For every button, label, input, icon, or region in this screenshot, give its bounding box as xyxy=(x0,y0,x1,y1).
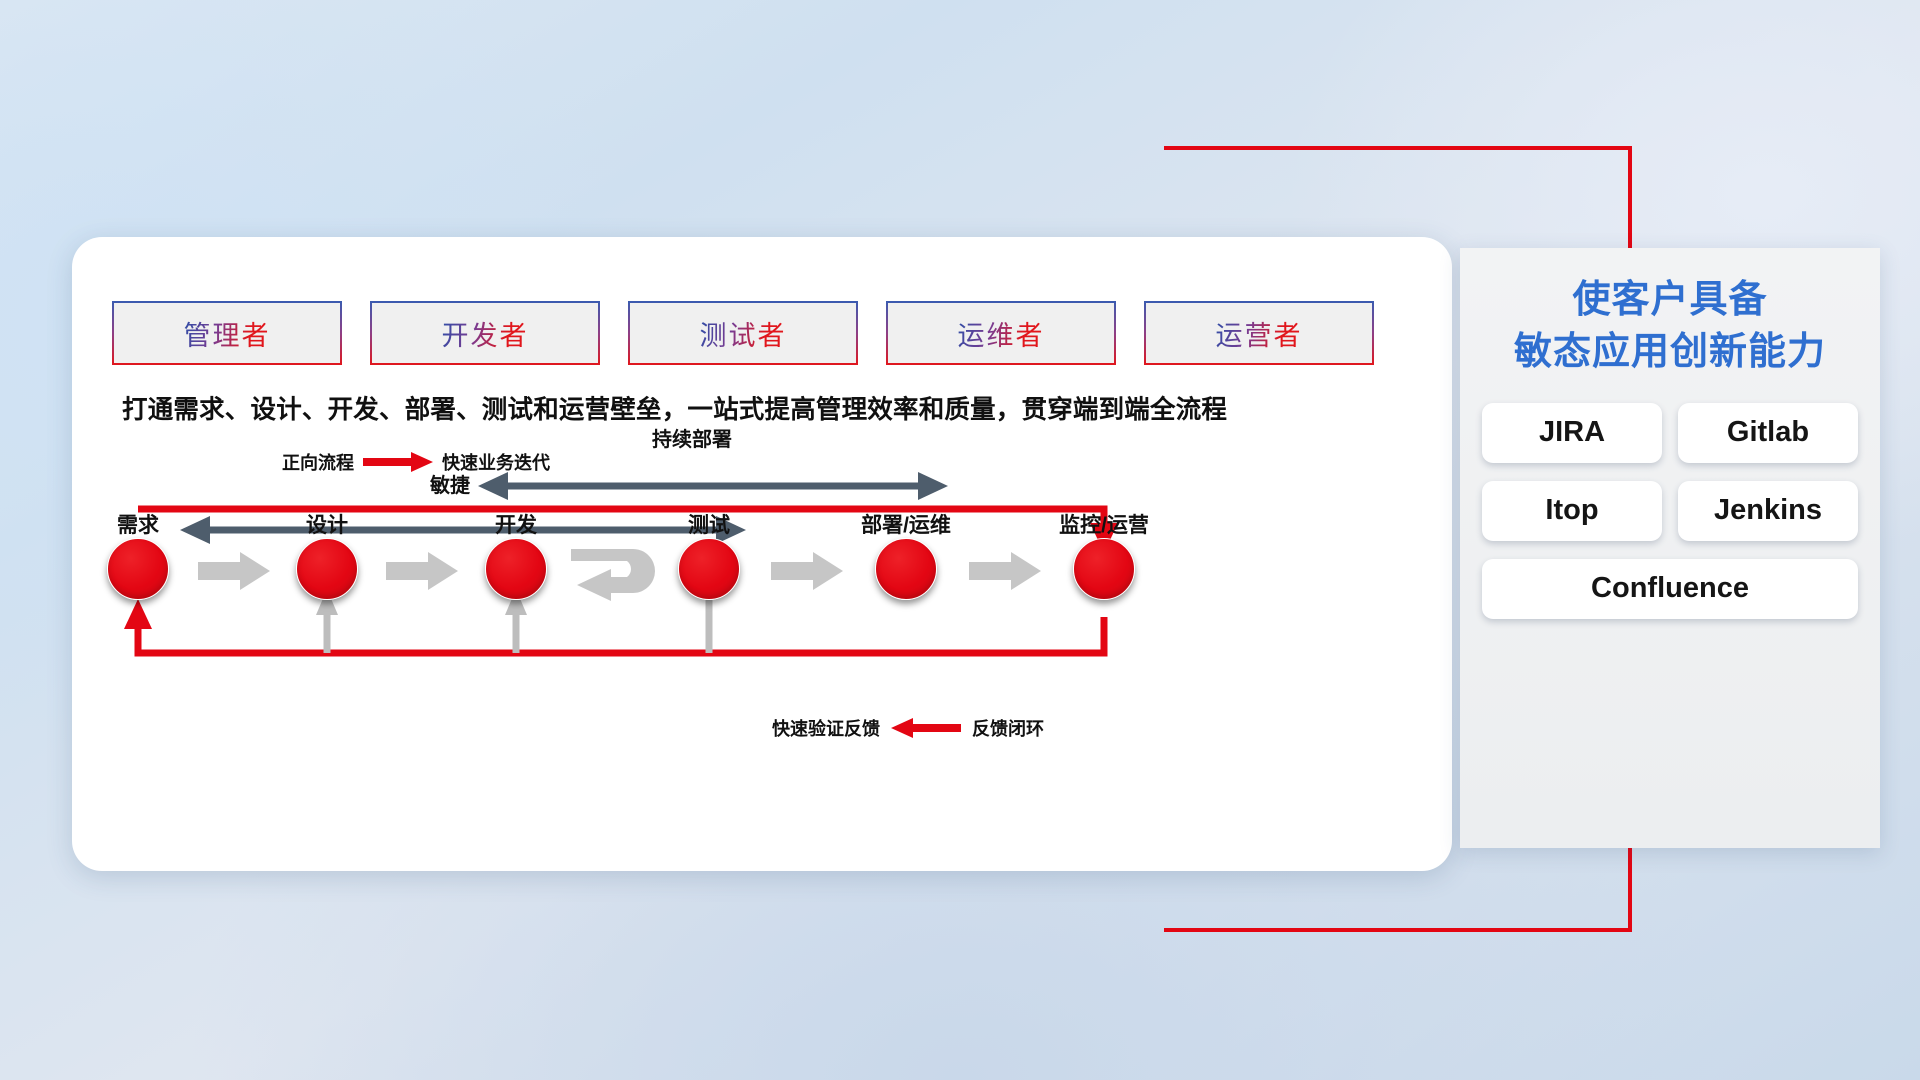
main-card: 管理者 开发者 测试者 运维者 运营者 xyxy=(72,237,1452,871)
pipeline-row: 需求 设计 开发 测试 部署/运维 xyxy=(72,237,1452,871)
stage-label-testing: 测试 xyxy=(688,509,730,539)
stage-dot-deploy-ops[interactable] xyxy=(875,538,937,600)
tool-pill-jira[interactable]: JIRA xyxy=(1482,403,1662,463)
panel-title-line1: 使客户具备 xyxy=(1460,274,1880,326)
gray-arrow-icon-2 xyxy=(386,552,458,590)
stage-label-development: 开发 xyxy=(495,509,537,539)
tool-pill-gitlab[interactable]: Gitlab xyxy=(1678,403,1858,463)
tools-panel: 使客户具备 敏态应用创新能力 JIRA Gitlab Itop Jenkins … xyxy=(1460,248,1880,848)
tool-pill-jenkins[interactable]: Jenkins xyxy=(1678,481,1858,541)
panel-title: 使客户具备 敏态应用创新能力 xyxy=(1460,274,1880,379)
gray-arrow-icon-3 xyxy=(771,552,843,590)
slide-canvas: 管理者 开发者 测试者 运维者 运营者 xyxy=(0,0,1920,1080)
tool-pill-grid: JIRA Gitlab Itop Jenkins Confluence xyxy=(1482,403,1858,619)
tool-pill-itop[interactable]: Itop xyxy=(1482,481,1662,541)
stage-label-design: 设计 xyxy=(306,509,348,539)
stage-label-monitor-operate: 监控/运营 xyxy=(1059,509,1149,539)
stage-label-requirements: 需求 xyxy=(117,509,159,539)
gray-loop-arrow-icon xyxy=(567,543,667,605)
gray-arrow-icon-1 xyxy=(198,552,270,590)
stage-dot-development[interactable] xyxy=(485,538,547,600)
panel-title-line2: 敏态应用创新能力 xyxy=(1460,326,1880,378)
stage-dot-monitor-operate[interactable] xyxy=(1073,538,1135,600)
stage-dot-requirements[interactable] xyxy=(107,538,169,600)
gray-arrow-icon-4 xyxy=(969,552,1041,590)
stage-dot-design[interactable] xyxy=(296,538,358,600)
tool-pill-confluence[interactable]: Confluence xyxy=(1482,559,1858,619)
stage-label-deploy-ops: 部署/运维 xyxy=(861,509,951,539)
stage-dot-testing[interactable] xyxy=(678,538,740,600)
